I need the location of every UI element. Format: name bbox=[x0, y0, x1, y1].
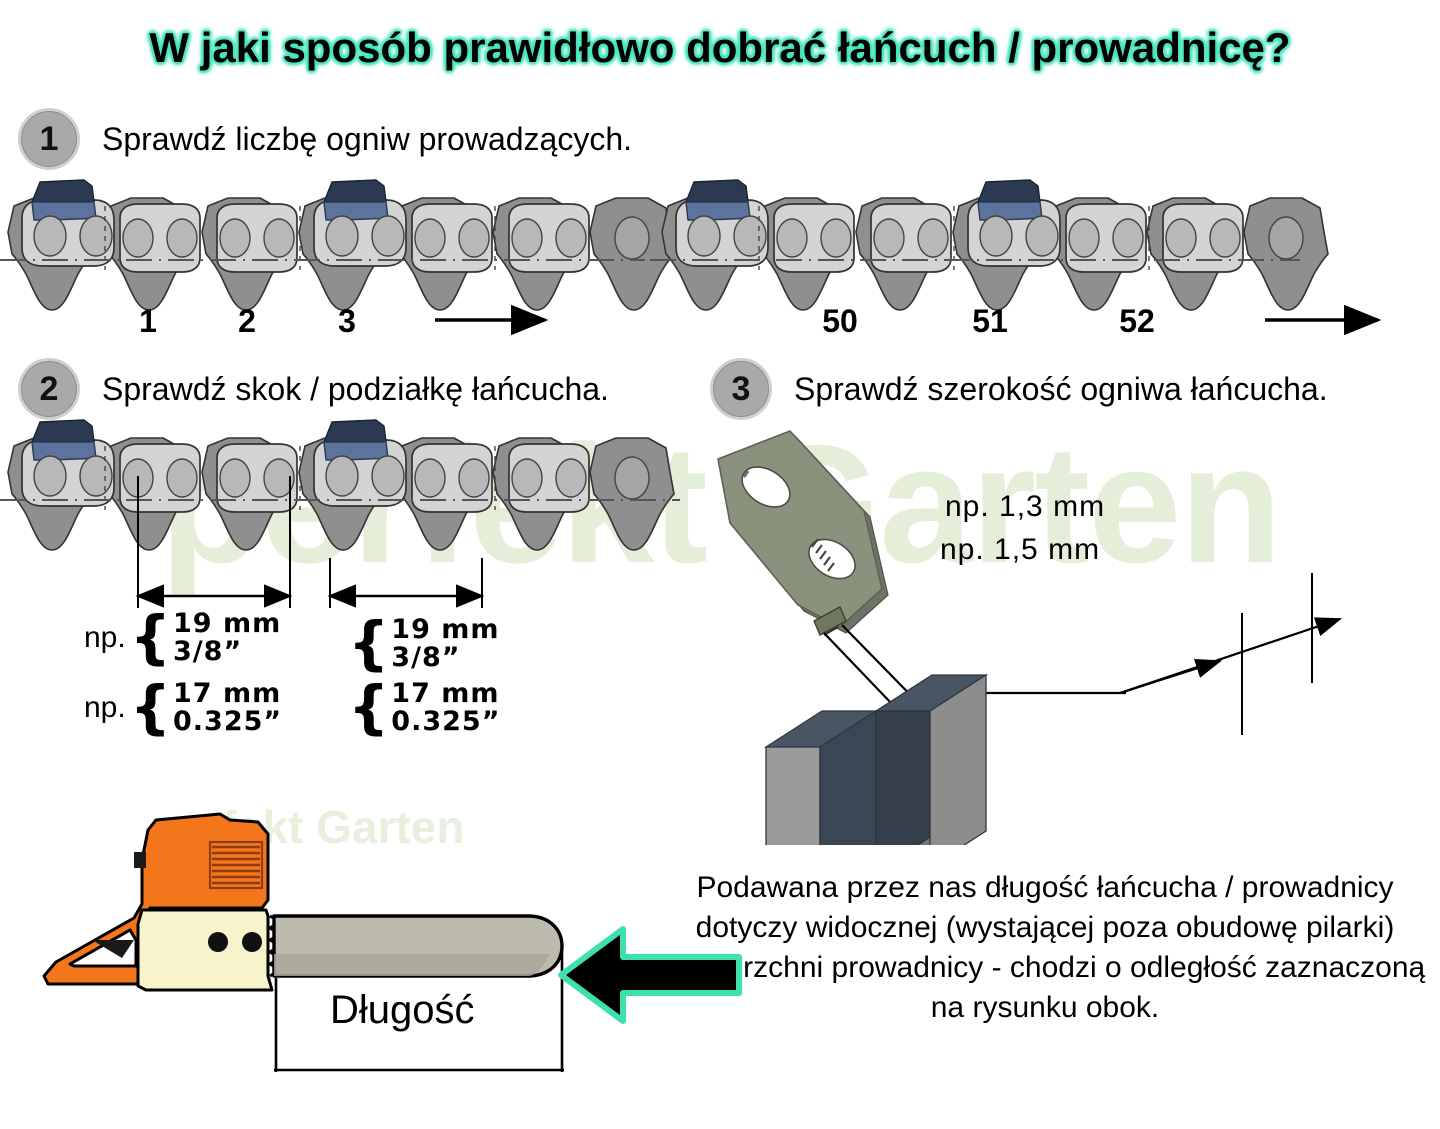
measurement-17mm-right: { 17 mm 0.325” bbox=[344, 680, 500, 735]
step-label-1: Sprawdź liczbę ogniw prowadzących. bbox=[102, 121, 632, 158]
measurement-mm: 19 mm bbox=[173, 610, 281, 638]
measurement-prefix: np. bbox=[84, 621, 126, 655]
step-badge-3: 3 bbox=[710, 358, 772, 420]
step-badge-1: 1 bbox=[18, 108, 80, 170]
guide-bar-groove-3d bbox=[766, 675, 986, 845]
chain-count-51: 51 bbox=[972, 303, 1008, 339]
brace-icon: { bbox=[130, 684, 171, 730]
width-label-1-3mm: np. 1,3 mm bbox=[945, 490, 1105, 524]
brace-icon: { bbox=[348, 620, 389, 666]
chain-count-52: 52 bbox=[1119, 303, 1155, 339]
length-label: Długość bbox=[330, 988, 475, 1033]
step-header-1: 1 Sprawdź liczbę ogniw prowadzących. bbox=[18, 108, 632, 170]
step-header-3: 3 Sprawdź szerokość ogniwa łańcucha. bbox=[710, 358, 1328, 420]
chain-count-50: 50 bbox=[822, 303, 858, 339]
measurement-mm: 19 mm bbox=[391, 616, 499, 644]
measurement-mm: 17 mm bbox=[173, 680, 282, 708]
step-label-2: Sprawdź skok / podziałkę łańcucha. bbox=[102, 371, 609, 408]
chain-count-3: 3 bbox=[338, 303, 356, 339]
measurement-prefix: np. bbox=[84, 691, 126, 725]
width-label-1-5mm: np. 1,5 mm bbox=[940, 533, 1100, 567]
brace-icon: { bbox=[130, 614, 171, 660]
measurement-inch: 0.325” bbox=[173, 708, 282, 736]
measurement-inch: 0.325” bbox=[391, 708, 500, 736]
drive-link-3d bbox=[718, 431, 888, 635]
step3-gauge-illustration bbox=[700, 425, 1440, 850]
page-title: W jaki sposób prawidłowo dobrać łańcuch … bbox=[0, 24, 1440, 72]
measurement-17mm-left: np. { 17 mm 0.325” bbox=[84, 680, 282, 735]
measurement-mm: 17 mm bbox=[391, 680, 500, 708]
step-badge-2: 2 bbox=[18, 358, 80, 420]
brace-icon: { bbox=[348, 684, 389, 730]
step-label-3: Sprawdź szerokość ogniwa łańcucha. bbox=[794, 371, 1328, 408]
chain-count-2: 2 bbox=[238, 303, 256, 339]
measurement-19mm-right: { 19 mm 3/8” bbox=[344, 616, 500, 671]
chain-count-1: 1 bbox=[139, 303, 157, 339]
measurement-inch: 3/8” bbox=[391, 644, 499, 672]
measurement-inch: 3/8” bbox=[173, 638, 281, 666]
step1-chain-illustration: 1 2 3 50 51 52 bbox=[0, 170, 1440, 345]
arrow-left-icon bbox=[555, 915, 745, 1040]
step-header-2: 2 Sprawdź skok / podziałkę łańcucha. bbox=[18, 358, 609, 420]
explanatory-paragraph: Podawana przez nas długość łańcucha / pr… bbox=[655, 868, 1435, 1028]
measurement-19mm-left: np. { 19 mm 3/8” bbox=[84, 610, 281, 665]
